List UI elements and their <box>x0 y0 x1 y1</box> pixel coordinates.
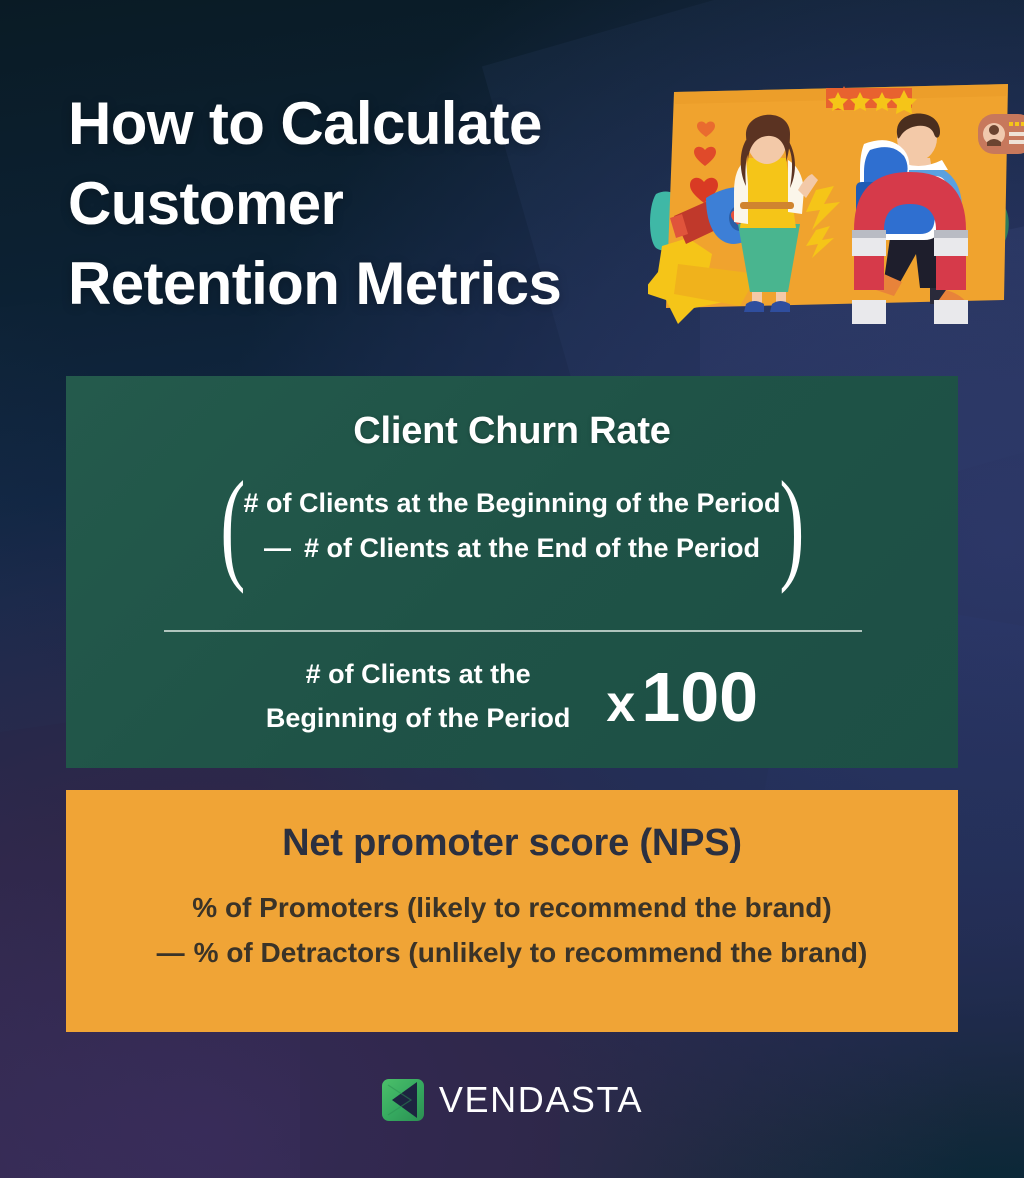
nps-line-2: % of Detractors (unlikely to recommend t… <box>194 937 868 968</box>
fraction-bar <box>164 630 862 632</box>
parenthesis-close-icon: ) <box>779 475 804 578</box>
infographic-poster: How to Calculate Customer Retention Metr… <box>0 0 1024 1178</box>
numerator-text: # of Clients at the Beginning of the Per… <box>243 481 780 571</box>
nps-line-2-wrap: —% of Detractors (unlikely to recommend … <box>66 930 958 975</box>
title-line-3: Retention Metrics <box>68 250 561 317</box>
vendasta-logo-mark-icon <box>381 1078 425 1122</box>
poster-header: How to Calculate Customer Retention Metr… <box>0 0 1024 340</box>
review-card <box>978 114 1024 154</box>
multiplier-symbol: x <box>606 675 641 733</box>
metric-card-client-churn-rate: Client Churn Rate ( # of Clients at the … <box>66 376 958 768</box>
brand-name: VENDASTA <box>439 1079 643 1121</box>
formula-numerator: ( # of Clients at the Beginning of the P… <box>162 475 862 578</box>
parenthesis-open-icon: ( <box>220 475 245 578</box>
numerator-line-1: # of Clients at the Beginning of the Per… <box>243 488 780 518</box>
churn-rate-formula: ( # of Clients at the Beginning of the P… <box>66 471 958 661</box>
numerator-line-2-wrap: —# of Clients at the End of the Period <box>243 526 780 571</box>
nps-formula: % of Promoters (likely to recommend the … <box>66 885 958 976</box>
multiplier-value: 100 <box>641 658 758 736</box>
title-line-1: How to Calculate <box>68 90 542 157</box>
card-title-client-churn-rate: Client Churn Rate <box>66 376 958 453</box>
denominator-line-1: # of Clients at the <box>306 659 531 689</box>
customer-retention-illustration <box>648 78 1024 324</box>
card-title-net-promoter-score: Net promoter score (NPS) <box>66 790 958 865</box>
formula-denominator: # of Clients at the Beginning of the Per… <box>132 653 892 740</box>
denominator-text: # of Clients at the Beginning of the Per… <box>266 653 571 740</box>
nps-line-1: % of Promoters (likely to recommend the … <box>192 892 831 923</box>
minus-dash: — <box>264 533 304 563</box>
metric-card-net-promoter-score: Net promoter score (NPS) % of Promoters … <box>66 790 958 1032</box>
denominator-line-2: Beginning of the Period <box>266 703 571 733</box>
page-title: How to Calculate Customer Retention Metr… <box>68 84 668 323</box>
multiplier: x100 <box>606 662 758 732</box>
title-line-2: Customer <box>68 170 343 237</box>
minus-dash: — <box>157 937 194 968</box>
numerator-line-2: # of Clients at the End of the Period <box>304 533 760 563</box>
footer-branding: VENDASTA <box>0 1078 1024 1122</box>
